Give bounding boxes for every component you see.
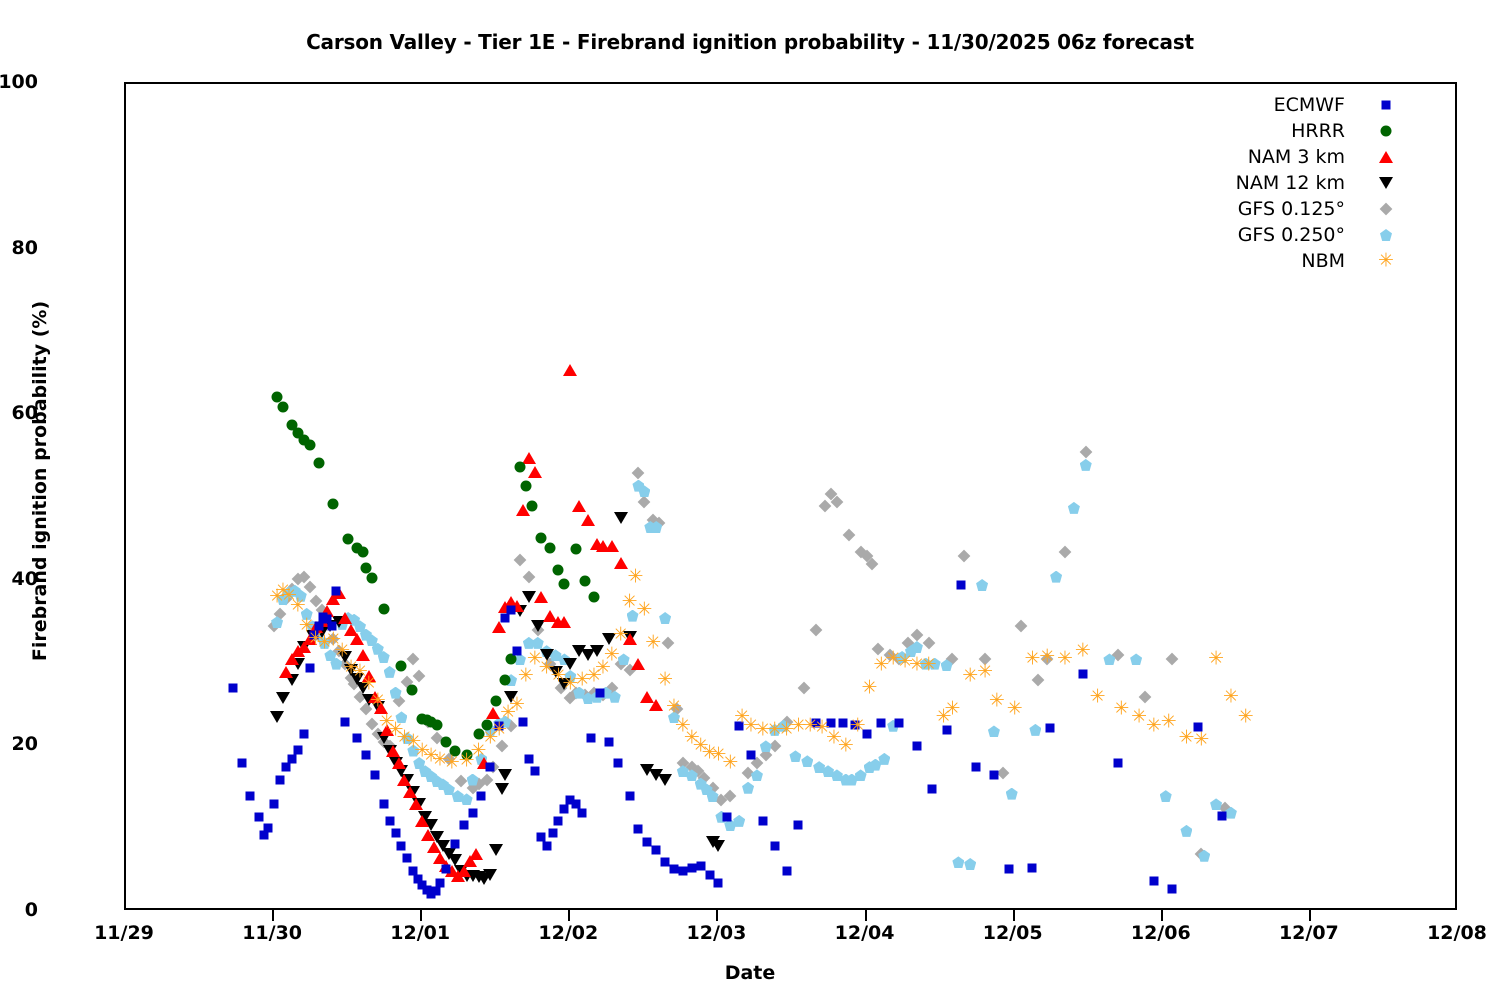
chart-page: Carson Valley - Tier 1E - Firebrand igni…: [0, 0, 1500, 1000]
asterisk-marker: ✳: [1113, 704, 1129, 715]
y-tick-label: 100: [0, 71, 38, 93]
asterisk-marker: ✳: [1223, 691, 1239, 702]
x-tick-mark: [1309, 910, 1311, 921]
asterisk-marker: ✳: [1057, 654, 1073, 665]
asterisk-marker: ✳: [722, 757, 738, 768]
x-tick-label: 12/06: [1096, 922, 1226, 944]
asterisk-marker: ✳: [1039, 651, 1055, 662]
asterisk-marker: ✳: [1179, 733, 1195, 744]
x-axis-title: Date: [0, 962, 1500, 984]
y-axis-title: Firebrand ignition probability (%): [29, 221, 51, 741]
asterisk-marker: ✳: [657, 675, 673, 686]
x-tick-mark: [1013, 910, 1015, 921]
x-tick-label: 12/07: [1244, 922, 1374, 944]
series-nbm: ✳✳✳✳✳✳✳✳✳✳✳✳✳✳✳✳✳✳✳✳✳✳✳✳✳✳✳✳✳✳✳✳✳✳✳✳✳✳✳✳…: [126, 84, 1455, 908]
asterisk-marker: ✳: [1024, 654, 1040, 665]
x-tick-mark: [716, 910, 718, 921]
y-tick-label: 60: [0, 402, 38, 424]
asterisk-marker: ✳: [613, 629, 629, 640]
asterisk-marker: ✳: [666, 701, 682, 712]
x-tick-label: 12/08: [1392, 922, 1500, 944]
asterisk-marker: ✳: [509, 700, 525, 711]
data-points-layer: ✳✳✳✳✳✳✳✳✳✳✳✳✳✳✳✳✳✳✳✳✳✳✳✳✳✳✳✳✳✳✳✳✳✳✳✳✳✳✳✳…: [126, 84, 1455, 908]
asterisk-marker: ✳: [628, 571, 644, 582]
asterisk-marker: ✳: [370, 695, 386, 706]
x-tick-label: 12/05: [948, 922, 1078, 944]
x-tick-mark: [1161, 910, 1163, 921]
asterisk-marker: ✳: [921, 660, 937, 671]
asterisk-marker: ✳: [850, 720, 866, 731]
asterisk-marker: ✳: [1090, 691, 1106, 702]
x-tick-label: 12/03: [651, 922, 781, 944]
asterisk-marker: ✳: [334, 646, 350, 657]
x-tick-mark: [865, 910, 867, 921]
asterisk-marker: ✳: [1161, 716, 1177, 727]
asterisk-marker: ✳: [491, 724, 507, 735]
asterisk-marker: ✳: [622, 596, 638, 607]
x-tick-label: 12/02: [503, 922, 633, 944]
asterisk-marker: ✳: [1075, 646, 1091, 657]
asterisk-marker: ✳: [838, 741, 854, 752]
asterisk-marker: ✳: [1131, 712, 1147, 723]
plot-area: ✳✳✳✳✳✳✳✳✳✳✳✳✳✳✳✳✳✳✳✳✳✳✳✳✳✳✳✳✳✳✳✳✳✳✳✳✳✳✳✳…: [124, 82, 1457, 910]
x-tick-mark: [420, 910, 422, 921]
asterisk-marker: ✳: [518, 671, 534, 682]
x-tick-label: 12/01: [355, 922, 485, 944]
asterisk-marker: ✳: [989, 695, 1005, 706]
y-tick-label: 40: [0, 568, 38, 590]
asterisk-marker: ✳: [862, 683, 878, 694]
asterisk-marker: ✳: [1146, 720, 1162, 731]
asterisk-marker: ✳: [1193, 734, 1209, 745]
x-tick-label: 11/29: [59, 922, 189, 944]
x-tick-label: 12/04: [800, 922, 930, 944]
asterisk-marker: ✳: [290, 600, 306, 611]
asterisk-marker: ✳: [645, 637, 661, 648]
y-tick-label: 80: [0, 237, 38, 259]
asterisk-marker: ✳: [944, 704, 960, 715]
y-tick-label: 0: [0, 899, 38, 921]
asterisk-marker: ✳: [962, 671, 978, 682]
asterisk-marker: ✳: [977, 666, 993, 677]
asterisk-marker: ✳: [444, 757, 460, 768]
asterisk-marker: ✳: [636, 604, 652, 615]
x-tick-mark: [568, 910, 570, 921]
asterisk-marker: ✳: [1208, 654, 1224, 665]
page-title: Carson Valley - Tier 1E - Firebrand igni…: [0, 30, 1500, 54]
y-tick-label: 20: [0, 733, 38, 755]
asterisk-marker: ✳: [1238, 712, 1254, 723]
asterisk-marker: ✳: [604, 650, 620, 661]
x-tick-label: 11/30: [207, 922, 337, 944]
asterisk-marker: ✳: [361, 679, 377, 690]
asterisk-marker: ✳: [1007, 704, 1023, 715]
x-tick-mark: [272, 910, 274, 921]
